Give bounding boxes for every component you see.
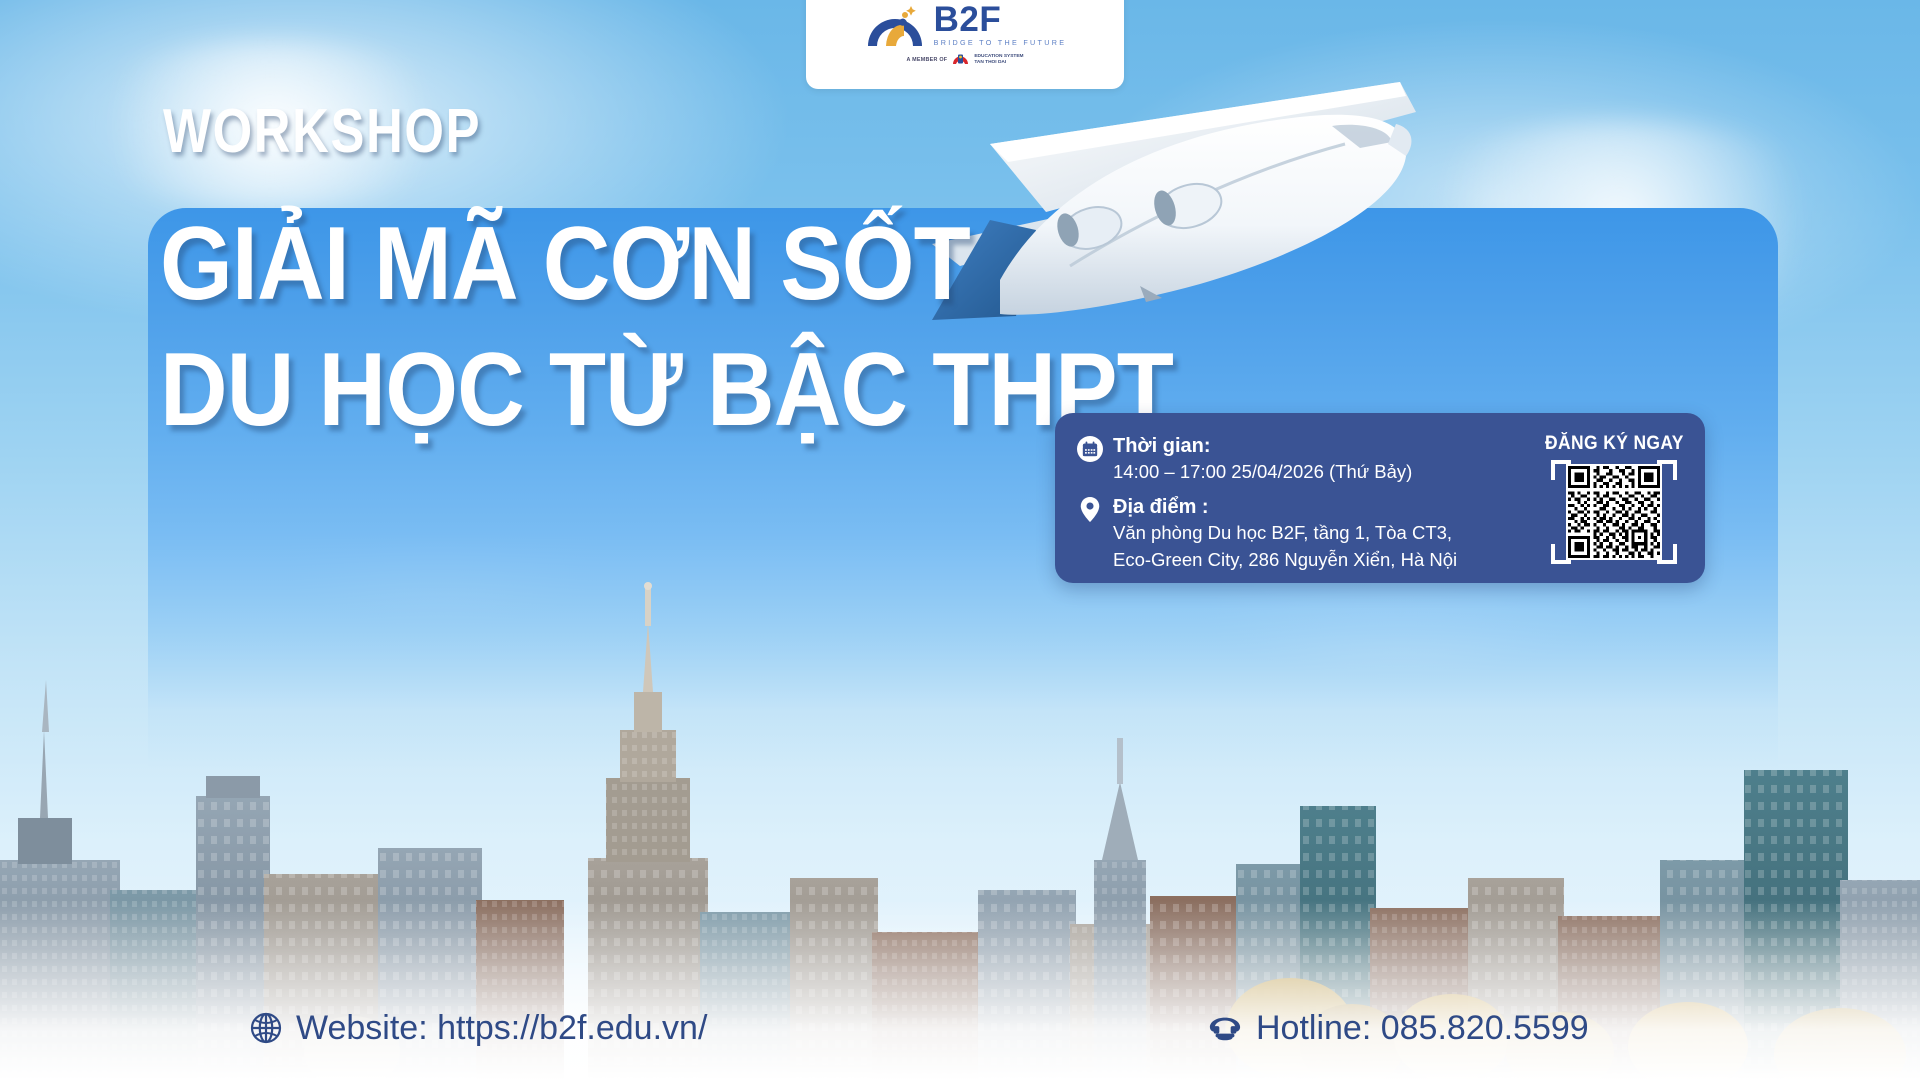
register-cta[interactable]: ĐĂNG KÝ NGAY xyxy=(1541,433,1687,564)
education-system-logo-icon xyxy=(952,53,969,66)
event-place-line-2: Eco-Green City, 286 Nguyễn Xiển, Hà Nội xyxy=(1113,548,1457,572)
event-time-row: Thời gian: 14:00 – 17:00 25/04/2026 (Thứ… xyxy=(1077,435,1531,484)
brand-name: B2F xyxy=(934,2,1002,37)
brand-logo-card: B2F BRIDGE TO THE FUTURE A MEMBER OF EDU… xyxy=(806,0,1124,89)
event-place-row: Địa điểm : Văn phòng Du học B2F, tầng 1,… xyxy=(1077,496,1531,572)
headline-line-2: DU HỌC TỪ BẬC THPT xyxy=(160,338,1173,442)
event-time-label: Thời gian: xyxy=(1113,435,1211,457)
telephone-icon xyxy=(1208,1014,1242,1042)
brand-wordmark: B2F BRIDGE TO THE FUTURE xyxy=(934,2,1067,46)
footer-hotline-text: Hotline: 085.820.5599 xyxy=(1256,1009,1589,1048)
event-details-box: Thời gian: 14:00 – 17:00 25/04/2026 (Thứ… xyxy=(1055,413,1705,583)
footer-website[interactable]: Website: https://b2f.edu.vn/ xyxy=(250,1009,707,1048)
member-of-row: A MEMBER OF EDUCATION SYSTEM TAN THOI DA… xyxy=(906,53,1023,66)
event-details-text: Thời gian: 14:00 – 17:00 25/04/2026 (Thứ… xyxy=(1077,433,1531,572)
location-pin-icon xyxy=(1077,496,1103,526)
poster-canvas: B2F BRIDGE TO THE FUTURE A MEMBER OF EDU… xyxy=(0,0,1920,1080)
register-label: ĐĂNG KÝ NGAY xyxy=(1545,433,1684,455)
page-title: GIẢI MÃ CƠN SỐT DU HỌC TỪ BẬC THPT xyxy=(160,212,1286,442)
qr-code[interactable] xyxy=(1566,464,1662,560)
headline-line-1: GIẢI MÃ CƠN SỐT xyxy=(160,212,1173,316)
eyebrow-workshop: WORKSHOP xyxy=(163,96,481,167)
calendar-icon xyxy=(1077,436,1103,462)
footer-bar: Website: https://b2f.edu.vn/ Hotline: 08… xyxy=(0,976,1920,1080)
globe-icon xyxy=(250,1012,282,1044)
footer-website-text: Website: https://b2f.edu.vn/ xyxy=(296,1009,707,1048)
member-name: EDUCATION SYSTEM TAN THOI DAI xyxy=(974,54,1023,66)
member-name-line2: TAN THOI DAI xyxy=(974,60,1006,65)
qr-scan-frame xyxy=(1551,460,1677,564)
member-of-label: A MEMBER OF xyxy=(906,57,947,63)
event-place-label: Địa điểm : xyxy=(1113,496,1209,518)
footer-hotline[interactable]: Hotline: 085.820.5599 xyxy=(1208,1009,1589,1048)
event-place-line-1: Văn phòng Du học B2F, tầng 1, Tòa CT3, xyxy=(1113,521,1457,545)
brand-logo-row: B2F BRIDGE TO THE FUTURE xyxy=(864,0,1067,48)
event-place-text: Địa điểm : Văn phòng Du học B2F, tầng 1,… xyxy=(1113,496,1457,572)
b2f-arc-logo-icon xyxy=(864,0,926,48)
brand-tagline: BRIDGE TO THE FUTURE xyxy=(934,39,1067,46)
event-time-value: 14:00 – 17:00 25/04/2026 (Thứ Bảy) xyxy=(1113,460,1412,484)
event-time-text: Thời gian: 14:00 – 17:00 25/04/2026 (Thứ… xyxy=(1113,435,1412,484)
member-name-line1: EDUCATION SYSTEM xyxy=(974,54,1023,59)
